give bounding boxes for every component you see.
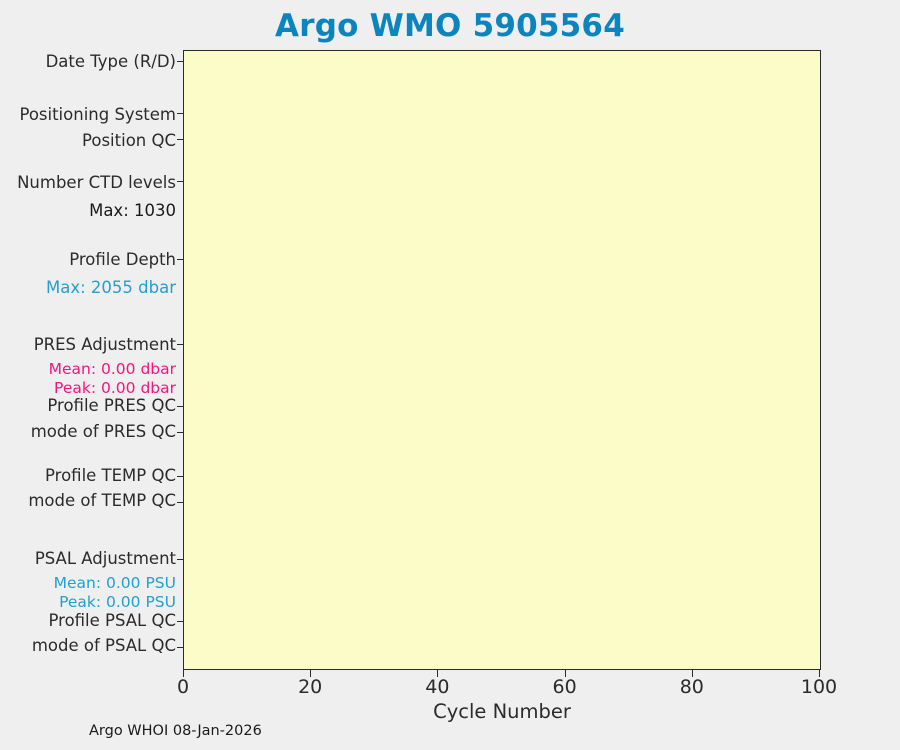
row-label-number-ctd-levels: Number CTD levels <box>0 173 176 192</box>
ytick-profile-depth <box>177 259 184 260</box>
ytick-date-type <box>177 61 184 62</box>
x-tick-label: 0 <box>177 676 189 698</box>
row-label-psal-adjustment: PSAL Adjustment <box>0 549 176 568</box>
row-label-pres-adjustment: PRES Adjustment <box>0 335 176 354</box>
row-label-positioning-system: Positioning System <box>0 105 176 124</box>
row-label-profile-psal-qc: Profile PSAL QC <box>0 611 176 630</box>
row-value-max-ctd-levels: Max: 1030 <box>0 201 176 220</box>
row-value-psal-peak: Peak: 0.00 PSU <box>0 593 176 611</box>
x-tick-label: 100 <box>801 676 837 698</box>
row-label-profile-temp-qc: Profile TEMP QC <box>0 466 176 485</box>
ytick-mode-temp-qc <box>177 502 184 503</box>
x-axis-ticks <box>183 670 821 678</box>
ytick-mode-pres-qc <box>177 432 184 433</box>
ytick-profile-psal-qc <box>177 621 184 622</box>
ytick-psal-adjustment <box>177 559 184 560</box>
page-title: Argo WMO 5905564 <box>0 8 900 44</box>
row-label-mode-psal-qc: mode of PSAL QC <box>0 636 176 655</box>
footer-credit: Argo WHOI 08-Jan-2026 <box>89 723 262 739</box>
ytick-pres-adjustment <box>177 344 184 345</box>
row-label-mode-temp-qc: mode of TEMP QC <box>0 491 176 510</box>
ytick-profile-pres-qc <box>177 406 184 407</box>
row-label-profile-depth: Profile Depth <box>0 250 176 269</box>
row-label-date-type: Date Type (R/D) <box>0 52 176 71</box>
x-tick-label: 40 <box>425 676 449 698</box>
ytick-mode-psal-qc <box>177 647 184 648</box>
x-tick-label: 60 <box>553 676 577 698</box>
row-value-pres-peak: Peak: 0.00 dbar <box>0 379 176 397</box>
ytick-profile-temp-qc <box>177 476 184 477</box>
row-value-pres-mean: Mean: 0.00 dbar <box>0 360 176 378</box>
ytick-positioning-system <box>177 113 184 114</box>
x-tick-label: 80 <box>680 676 704 698</box>
row-value-psal-mean: Mean: 0.00 PSU <box>0 574 176 592</box>
argo-float-summary-figure: Argo WMO 5905564 Date Type (R/D) Positio… <box>0 0 900 750</box>
row-label-mode-pres-qc: mode of PRES QC <box>0 422 176 441</box>
row-label-position-qc: Position QC <box>0 131 176 150</box>
plot-area <box>183 50 821 670</box>
row-label-profile-pres-qc: Profile PRES QC <box>0 396 176 415</box>
x-tick-label: 20 <box>298 676 322 698</box>
row-value-max-profile-depth: Max: 2055 dbar <box>0 278 176 297</box>
ytick-ctd-levels <box>177 181 184 182</box>
ytick-position-qc <box>177 139 184 140</box>
x-axis-label: Cycle Number <box>183 700 821 723</box>
